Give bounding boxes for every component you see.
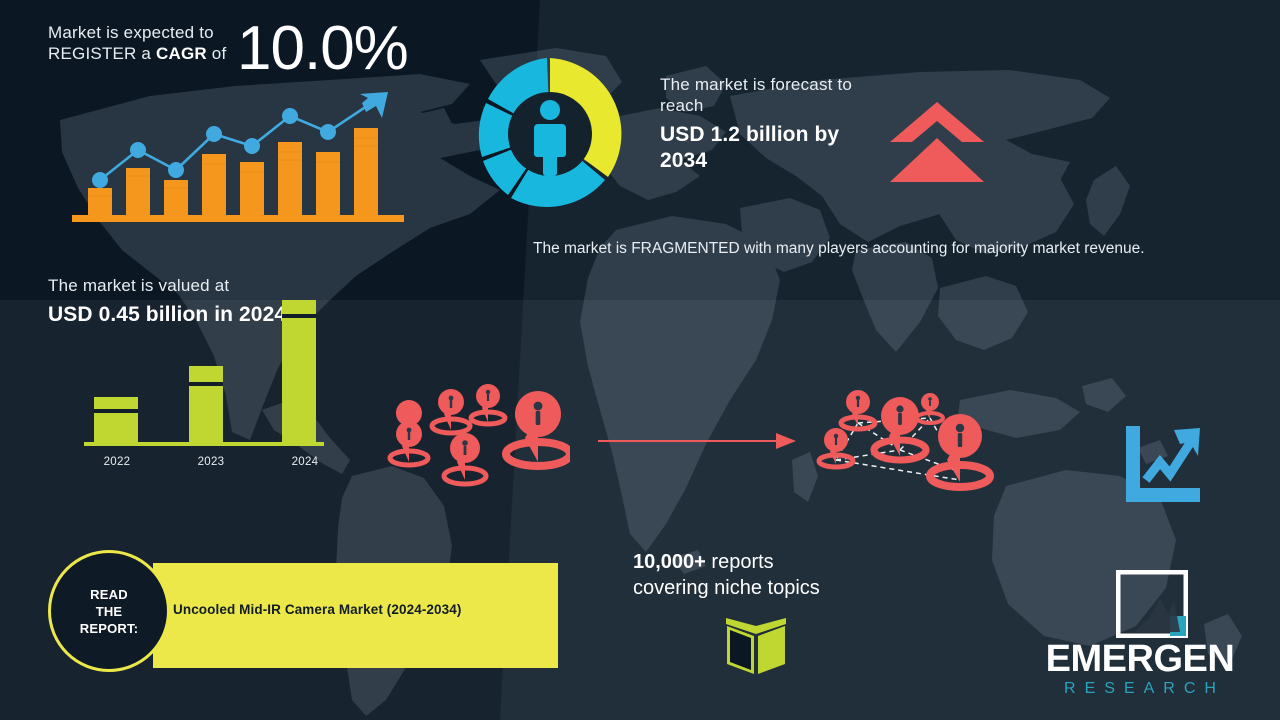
year-label-2024: 2024: [282, 456, 328, 468]
cagr-line-2-pre: REGISTER a: [48, 44, 156, 63]
report-title: Uncooled Mid-IR Camera Market (2024-2034…: [173, 602, 461, 617]
read-label-line-1: READ: [80, 586, 138, 603]
forecast-text-block: The market is forecast to reach USD 1.2 …: [660, 74, 890, 174]
historical-value-bars: [76, 292, 336, 452]
forecast-value: USD 1.2 billion by 2034: [660, 122, 890, 174]
cagr-keyword: CAGR: [156, 44, 207, 63]
logo-wordmark: EMERGEN: [1020, 640, 1260, 678]
emergen-research-logo[interactable]: EMERGEN RESEARCH: [1020, 570, 1260, 700]
cagr-line-2-post: of: [207, 44, 227, 63]
map-pin-network-right: [808, 388, 1008, 503]
logo-subwordmark: RESEARCH: [1020, 680, 1260, 698]
fragmented-statement: The market is FRAGMENTED with many playe…: [533, 238, 1223, 260]
reports-line-1: 10,000+ reports: [633, 549, 913, 575]
read-label-line-2: THE: [80, 603, 138, 620]
right-arrow-icon: [598, 430, 798, 452]
read-label-line-3: REPORT:: [80, 620, 138, 637]
reports-suffix: reports: [706, 551, 774, 573]
report-cta-banner[interactable]: Uncooled Mid-IR Camera Market (2024-2034…: [153, 563, 558, 668]
square-chart-mark-icon: [1116, 570, 1188, 638]
map-pin-cluster-left: [385, 382, 570, 492]
year-label-2022: 2022: [94, 456, 140, 468]
year-label-2023: 2023: [188, 456, 234, 468]
double-chevron-up-icon: [888, 100, 986, 184]
forecast-line-2: reach: [660, 95, 890, 116]
reports-text-block: 10,000+ reports covering niche topics: [633, 549, 913, 601]
reports-line-2: covering niche topics: [633, 575, 913, 601]
read-the-report-badge[interactable]: READ THE REPORT:: [48, 550, 170, 672]
read-the-report-label: READ THE REPORT:: [80, 586, 138, 637]
reports-count: 10,000+: [633, 551, 706, 573]
infographic-canvas: Market is expected to REGISTER a CAGR of…: [0, 0, 1280, 720]
growth-statistics-icon: [1122, 424, 1204, 508]
donut-person-icon: [468, 52, 632, 216]
open-book-icon: [722, 612, 790, 680]
forecast-line-1: The market is forecast to: [660, 74, 890, 95]
growth-chart-icon: [64, 84, 412, 226]
cagr-value: 10.0%: [237, 18, 408, 80]
